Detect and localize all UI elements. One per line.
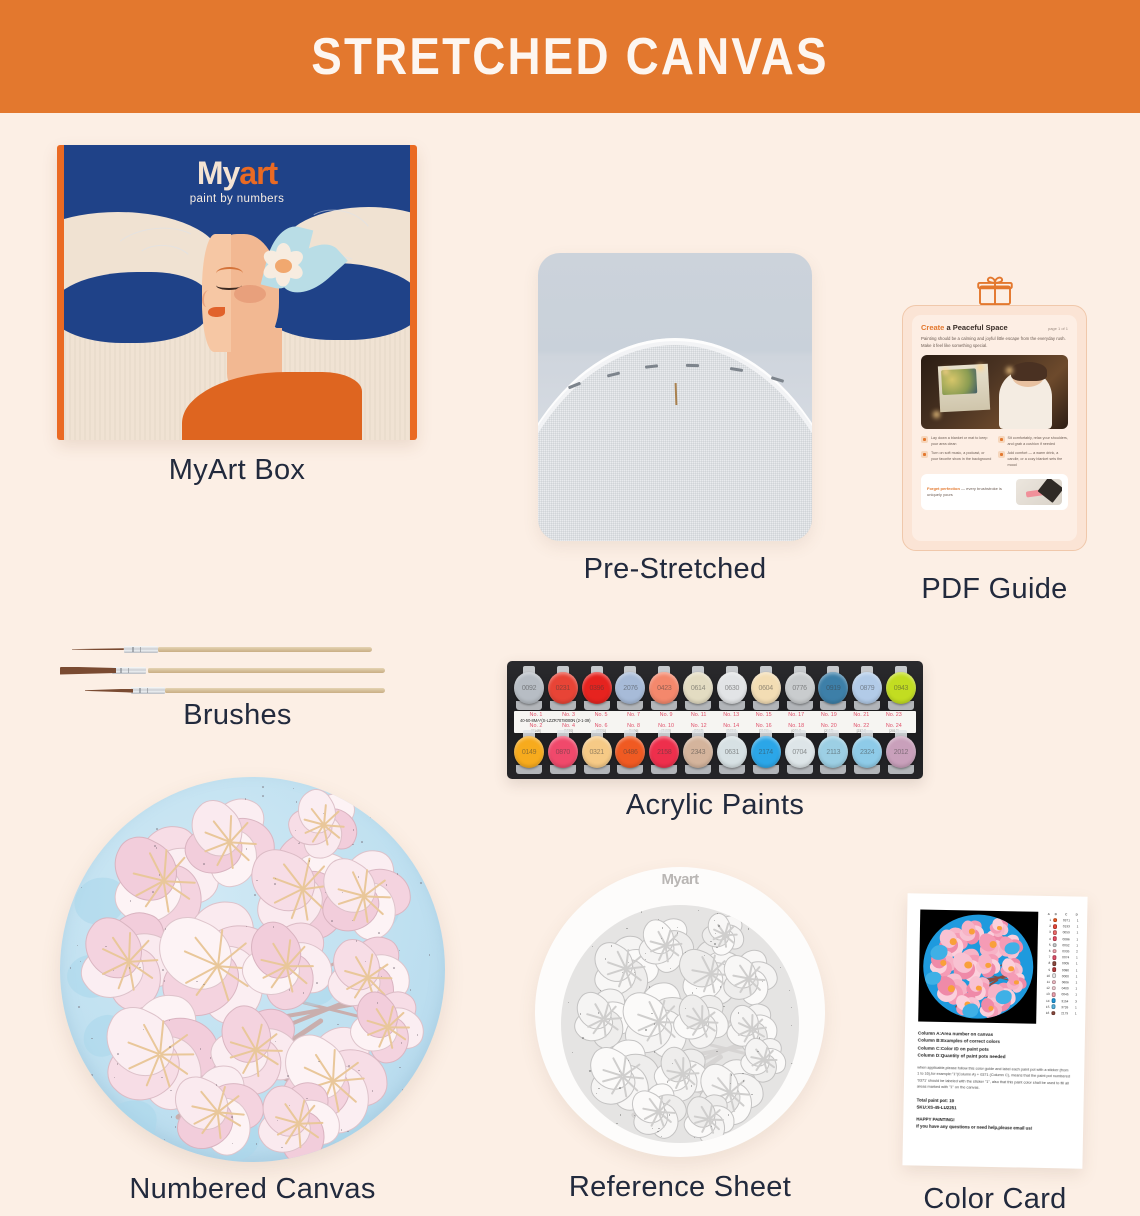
pot-lid: 0321 <box>582 736 612 768</box>
color-swatch <box>1053 936 1058 941</box>
area-number-dot <box>791 1063 792 1064</box>
pot-color-code: 0879 <box>860 685 874 692</box>
nose <box>202 290 214 307</box>
paint-pot-row-top: 0092023103962076042306140630060407760919… <box>514 666 916 710</box>
area-number-dot <box>254 894 256 896</box>
pot-lid: 0092 <box>514 672 544 704</box>
paint-pot: 0943 <box>886 666 916 710</box>
color-swatch-cell <box>1052 918 1059 923</box>
area-number-dot <box>420 882 422 884</box>
pdf-title-rest: a Peaceful Space <box>944 323 1007 332</box>
pot-lid: 0231 <box>548 672 578 704</box>
area-number-dot <box>619 1087 620 1088</box>
area-number-dot <box>711 1126 712 1127</box>
reference-sheet-art <box>561 905 799 1143</box>
pdf-tips-list: Lay down a blanket or mat to keep your a… <box>921 435 1068 469</box>
area-number: 8 <box>1043 961 1050 965</box>
color-swatch-cell <box>1051 949 1058 954</box>
color-card-table: ABCD 10371120193130059140086150092160335… <box>1042 912 1081 1025</box>
pot-lid: 0604 <box>751 672 781 704</box>
stamen <box>287 965 314 967</box>
pdf-tip-text: Turn on soft music, a podcast, or your f… <box>931 450 992 468</box>
pdf-guide-card: Create a Peaceful Space page 1 of 1 Pain… <box>902 305 1087 551</box>
color-card-paper: ABCD 10371120193130059140086150092160335… <box>902 893 1087 1168</box>
eyebrow <box>216 267 243 280</box>
area-number-dot <box>584 950 585 951</box>
cherry-blossom <box>1006 973 1026 992</box>
warm-light <box>933 411 940 418</box>
pdf-tip-item: Add comfort — a warm drink, a candle, or… <box>998 450 1069 468</box>
area-number-dot <box>298 843 300 845</box>
brush-flat-wide <box>60 666 385 675</box>
pot-color-code: 2076 <box>623 685 637 692</box>
area-number-dot <box>704 955 705 956</box>
area-number-dot <box>698 910 699 911</box>
brush-icon <box>1037 479 1062 503</box>
paint-number-label: No. 23 <box>879 712 909 718</box>
pot-color-code: 2012 <box>894 749 908 756</box>
area-number-dot <box>667 1081 668 1082</box>
pdf-tip-item: Lay down a blanket or mat to keep your a… <box>921 435 992 447</box>
pot-quantity: 1 <box>1073 987 1080 991</box>
caption-reference-sheet: Reference Sheet <box>535 1171 825 1204</box>
area-number-dot <box>101 793 103 795</box>
area-number-dot <box>582 1037 583 1038</box>
paint-pot: 0396 <box>582 666 612 710</box>
blossom-center <box>989 941 996 948</box>
area-number-dot <box>210 1057 212 1059</box>
color-swatch-cell <box>1052 930 1059 935</box>
color-card-top: ABCD 10371120193130059140086150092160335… <box>918 910 1074 1025</box>
area-number-dot <box>370 816 372 818</box>
area-number: 1 <box>1044 918 1051 922</box>
area-number-dot <box>390 1127 392 1129</box>
area-number-dot <box>316 982 318 984</box>
pot-color-code: 0423 <box>657 685 671 692</box>
music-icon <box>921 451 928 458</box>
pot-lid: 0776 <box>785 672 815 704</box>
blossom-center <box>976 985 982 991</box>
area-number-dot <box>287 1075 289 1077</box>
color-id: 0045 <box>1058 993 1072 997</box>
pot-color-code: 0396 <box>589 685 603 692</box>
paint-pot: 2012 <box>886 730 916 774</box>
color-swatch-cell <box>1052 924 1059 929</box>
paint-number-label: No. 11 <box>684 712 714 718</box>
color-id: 3726 <box>1058 1005 1072 1009</box>
color-card-figure: ABCD 10371120193130059140086150092160335… <box>905 895 1085 1167</box>
pdf-tip-item: Turn on soft music, a podcast, or your f… <box>921 450 992 468</box>
area-number-dot <box>748 928 749 929</box>
area-number: 9 <box>1043 968 1050 972</box>
color-swatch <box>1051 1011 1056 1016</box>
area-number-dot <box>127 801 129 803</box>
color-swatch <box>1052 974 1057 979</box>
pre-stretched-figure: Pre-Stretched <box>538 253 812 541</box>
color-card-body-text: when applicable,please follow this color… <box>917 1064 1071 1093</box>
color-swatch <box>1052 980 1057 985</box>
pot-lid: 0919 <box>818 672 848 704</box>
pot-lid: 0486 <box>615 736 645 768</box>
pot-quantity: 1 <box>1074 925 1081 929</box>
pot-lid: 0943 <box>886 672 916 704</box>
color-swatch <box>1051 998 1056 1003</box>
area-number-dot <box>742 1073 743 1074</box>
logo-wordmark: Myart <box>64 157 410 189</box>
pdf-footer-text: Forget perfection — every brushstroke is… <box>927 486 1011 499</box>
paint-tray: 0092023103962076042306140630060407760919… <box>507 661 923 779</box>
reference-sheet-logo: Myart <box>535 871 825 888</box>
paint-number-label: No. 5 <box>586 712 616 718</box>
area-number-dot <box>791 1007 792 1008</box>
color-swatch <box>1052 986 1057 991</box>
color-card-preview-image <box>918 910 1038 1024</box>
color-swatch <box>1052 967 1057 972</box>
color-swatch <box>1052 961 1057 966</box>
area-number: 4 <box>1044 937 1051 941</box>
paint-number-label: No. 21 <box>846 712 876 718</box>
area-number-dot <box>572 1052 573 1053</box>
area-number-dot <box>791 1025 792 1026</box>
color-swatch-cell <box>1050 1011 1057 1016</box>
paint-number-label: No. 19 <box>814 712 844 718</box>
pdf-tip-text: Lay down a blanket or mat to keep your a… <box>931 435 992 447</box>
color-swatch-cell <box>1050 986 1057 991</box>
color-card-row: 1621791 <box>1042 1010 1079 1017</box>
caption-brushes: Brushes <box>60 699 415 732</box>
logo-my: My <box>197 155 239 191</box>
area-number-dot <box>615 1128 616 1129</box>
color-id: 0059 <box>1059 931 1073 935</box>
area-number-dot <box>245 798 247 800</box>
paint-pot: 0149 <box>514 730 544 774</box>
paint-number-label: No. 7 <box>619 712 649 718</box>
paint-pot: 0604 <box>751 666 781 710</box>
area-number-dot <box>716 1051 717 1052</box>
color-card-table-body: 1037112019313005914008615009216033527007… <box>1042 917 1081 1017</box>
flower-icon <box>258 242 310 289</box>
pot-lid: 0630 <box>717 672 747 704</box>
area-number-dot <box>164 980 166 982</box>
color-id: 0371 <box>1059 918 1073 922</box>
area-number-dot <box>569 1124 570 1125</box>
paint-pot: 0486 <box>615 730 645 774</box>
area-number-dot <box>649 986 650 987</box>
paint-pot-row-bottom: 0149087003210486215823430631217407042113… <box>514 730 916 774</box>
brush-handle <box>158 647 372 652</box>
color-id: 0005 <box>1059 962 1073 966</box>
hair-left <box>64 272 209 343</box>
blossom-center <box>948 985 956 992</box>
myart-logo: Myart paint by numbers <box>64 157 410 205</box>
color-swatch <box>1053 918 1058 923</box>
area-number-dot <box>598 1012 599 1013</box>
lips <box>208 307 225 318</box>
paint-pot: 2158 <box>649 730 679 774</box>
area-number-dot <box>358 876 360 878</box>
pot-lid: 2324 <box>852 736 882 768</box>
area-number-dot <box>626 928 627 929</box>
area-number-dot <box>361 841 363 843</box>
brush-thin-round <box>72 645 372 654</box>
color-swatch-cell <box>1051 980 1058 985</box>
pot-quantity: 1 <box>1072 1011 1079 1015</box>
area-number-dot <box>762 981 763 982</box>
area-number-dot <box>281 1147 283 1149</box>
area-number-dot <box>429 954 431 956</box>
brush-handle <box>165 688 385 693</box>
area-number-dot <box>589 1070 590 1071</box>
area-number-dot <box>378 932 380 934</box>
brush-bristles <box>60 667 116 675</box>
pre-stretched-photo <box>538 253 812 541</box>
area-number-dot <box>97 1094 99 1096</box>
area-number-dot <box>171 1116 173 1118</box>
box-outer-shell: Myart paint by numbers <box>57 145 417 440</box>
blossom-center <box>988 1006 993 1011</box>
paint-pot: 2113 <box>818 730 848 774</box>
caption-pdf-guide: PDF Guide <box>902 573 1087 606</box>
color-id: 0092 <box>1059 943 1073 947</box>
pot-quantity: 1 <box>1073 962 1080 966</box>
caption-myart-box: MyArt Box <box>57 454 417 487</box>
color-card-col-d: D <box>1073 912 1080 916</box>
pdf-page-label: page 1 of 1 <box>1048 326 1068 331</box>
area-number-dot <box>620 1114 621 1115</box>
area-number-dot <box>428 824 430 826</box>
area-number-dot <box>273 926 275 928</box>
area-number-dot <box>592 946 593 947</box>
color-swatch <box>1052 943 1057 948</box>
area-number-dot <box>421 824 423 826</box>
area-number-dot <box>85 802 87 804</box>
blossom-center <box>950 938 957 945</box>
brush-ferrule <box>112 667 146 674</box>
pot-color-code: 0704 <box>792 749 806 756</box>
area-number-dot <box>99 829 101 831</box>
pot-quantity: 2 <box>1073 950 1080 954</box>
pdf-title: Create a Peaceful Space <box>921 323 1008 332</box>
paint-pot: 0879 <box>852 666 882 710</box>
area-number-dot <box>262 795 264 797</box>
brushes-figure: Brushes <box>60 641 415 716</box>
area-number-dot <box>77 945 79 947</box>
pdf-tip-item: Sit comfortably, relax your shoulders, a… <box>998 435 1069 447</box>
area-number-dot <box>728 1114 729 1115</box>
paint-number-label: No. 9 <box>651 712 681 718</box>
area-number-dot <box>785 1082 786 1083</box>
acrylic-paints-figure: 0092023103962076042306140630060407760919… <box>507 661 923 779</box>
pot-color-code: 0604 <box>759 685 773 692</box>
area-number: 14 <box>1043 998 1050 1002</box>
cherry-blossom <box>704 915 744 955</box>
color-swatch <box>1052 955 1057 960</box>
pdf-guide-page: Create a Peaceful Space page 1 of 1 Pain… <box>912 315 1077 541</box>
color-card-totals: Total paint pot: 19 SKU:XS-45-LU2251 <box>916 1096 1070 1113</box>
color-id: 3154 <box>1058 999 1072 1003</box>
brush-ferrule <box>124 646 158 653</box>
paint-number-label: No. 13 <box>716 712 746 718</box>
area-number-dot <box>780 967 781 968</box>
area-number-dot <box>714 943 715 944</box>
area-number-dot <box>365 961 367 963</box>
color-swatch-cell <box>1051 961 1058 966</box>
pot-lid: 2174 <box>751 736 781 768</box>
paint-pot: 0231 <box>548 666 578 710</box>
shirt-shoulder <box>182 372 362 440</box>
brush-handle <box>148 668 385 673</box>
area-number-dot <box>105 946 107 948</box>
pdf-intro-text: Painting should be a calming and joyful … <box>921 336 1068 350</box>
area-number-dot <box>289 989 291 991</box>
paint-pot: 0630 <box>717 666 747 710</box>
brushstroke-photo <box>1016 479 1062 505</box>
area-number-dot <box>405 1153 407 1155</box>
cherry-blossom <box>685 1095 733 1143</box>
preview-circle <box>922 914 1034 1020</box>
brush-bristles <box>85 689 133 693</box>
paint-pot: 0423 <box>649 666 679 710</box>
area-number-dot <box>785 957 786 958</box>
paint-pot: 2343 <box>683 730 713 774</box>
stamen <box>160 1053 194 1055</box>
pdf-tip-text: Add comfort — a warm drink, a candle, or… <box>1008 450 1069 468</box>
caption-color-card: Color Card <box>905 1183 1085 1216</box>
color-swatch <box>1053 930 1058 935</box>
pot-color-code: 0776 <box>792 685 806 692</box>
pot-lid: 2076 <box>615 672 645 704</box>
area-number-dot <box>789 990 790 991</box>
area-number-dot <box>117 1053 119 1055</box>
area-number-dot <box>309 860 311 862</box>
numbered-canvas-art <box>60 777 445 1162</box>
area-number-dot <box>91 1038 93 1040</box>
area-number-dot <box>399 1067 401 1069</box>
area-number-dot <box>410 989 412 991</box>
pot-color-code: 2324 <box>860 749 874 756</box>
pdf-footer-highlight: Forget perfection <box>927 486 960 491</box>
area-number-dot <box>91 1074 93 1076</box>
color-swatch-cell <box>1051 943 1058 948</box>
color-card-closing: HAPPY PAINTING! If you have any question… <box>916 1115 1070 1132</box>
pot-color-code: 0614 <box>691 685 705 692</box>
color-swatch-cell <box>1050 1004 1057 1009</box>
brush-medium-round <box>85 686 385 695</box>
area-number-dot <box>757 1051 758 1052</box>
cherry-blossom <box>742 1038 785 1081</box>
pot-lid: 0870 <box>548 736 578 768</box>
caption-pre-stretched: Pre-Stretched <box>538 553 812 586</box>
area-number-dot <box>751 1094 752 1095</box>
area-number-dot <box>216 1084 218 1086</box>
area-number-dot <box>670 968 671 969</box>
area-number-dot <box>765 911 766 912</box>
blossom-center <box>964 961 972 969</box>
brush-ferrule <box>131 687 165 694</box>
color-swatch-cell <box>1051 974 1058 979</box>
area-number-dot <box>419 1105 421 1107</box>
area-number: 3 <box>1044 930 1051 934</box>
area-number: 16 <box>1042 1011 1049 1015</box>
area-number: 6 <box>1044 949 1051 953</box>
color-id: 0074 <box>1059 955 1073 959</box>
area-number-dot <box>231 1116 233 1118</box>
page-title: STRETCHED CANVAS <box>311 27 828 87</box>
pdf-header-row: Create a Peaceful Space page 1 of 1 <box>921 323 1068 332</box>
area-number-dot <box>70 967 72 969</box>
color-id: 0335 <box>1059 949 1073 953</box>
color-id: 0193 <box>1059 924 1073 928</box>
pot-quantity: 1 <box>1074 919 1081 923</box>
color-swatch-cell <box>1050 992 1057 997</box>
area-number-dot <box>568 1002 569 1003</box>
paint-pot: 0919 <box>818 666 848 710</box>
reference-sheet-figure: Myart Reference Sheet <box>535 855 825 1160</box>
color-swatch <box>1052 949 1057 954</box>
area-number: 15 <box>1042 1005 1049 1009</box>
product-feature-grid: Myart paint by numbers MyArt Box Pre-Str… <box>0 113 1140 1140</box>
pot-lid: 2158 <box>649 736 679 768</box>
pot-quantity: 1 <box>1073 956 1080 960</box>
brush-bristles <box>72 648 124 650</box>
paint-pot: 0092 <box>514 666 544 710</box>
area-number-dot <box>386 884 388 886</box>
area-number-dot <box>408 1148 410 1150</box>
area-number-dot <box>151 1153 153 1155</box>
color-id: 0086 <box>1059 937 1073 941</box>
area-number-dot <box>331 920 333 922</box>
paint-pot: 2174 <box>751 730 781 774</box>
area-number: 11 <box>1043 980 1050 984</box>
pot-color-code: 2158 <box>657 749 671 756</box>
cushion-icon <box>998 436 1005 443</box>
cherry-blossom <box>976 954 1001 977</box>
cherry-blossom <box>675 995 727 1047</box>
area-number-dot <box>765 1117 766 1118</box>
color-id: 0400 <box>1058 986 1072 990</box>
area-number: 13 <box>1043 992 1050 996</box>
area-number-dot <box>393 967 395 969</box>
pot-lid: 0614 <box>683 672 713 704</box>
area-number-dot <box>590 1117 591 1118</box>
pot-color-code: 0919 <box>826 685 840 692</box>
area-number: 2 <box>1044 924 1051 928</box>
pot-color-code: 0631 <box>725 749 739 756</box>
color-card-legend: Column A:Area number on canvasColumn B:E… <box>917 1030 1072 1063</box>
area-number-dot <box>372 1090 374 1092</box>
area-number-dot <box>774 1097 775 1098</box>
area-number-dot <box>436 1129 438 1131</box>
area-number-dot <box>401 1042 403 1044</box>
pot-color-code: 2113 <box>826 749 840 756</box>
pdf-title-highlight: Create <box>921 323 944 332</box>
color-swatch-cell <box>1051 967 1058 972</box>
color-swatch-cell <box>1050 998 1057 1003</box>
area-number-dot <box>196 981 198 983</box>
area-number-dot <box>783 928 784 929</box>
area-number-dot <box>152 891 154 893</box>
caption-acrylic-paints: Acrylic Paints <box>507 789 923 822</box>
area-number: 10 <box>1043 974 1050 978</box>
area-number-dot <box>718 925 719 926</box>
area-number-dot <box>793 973 794 974</box>
pot-quantity: 1 <box>1074 931 1081 935</box>
pot-quantity: 1 <box>1074 943 1081 947</box>
area-number-dot <box>154 845 156 847</box>
area-number-dot <box>641 911 642 912</box>
area-number-dot <box>645 1029 646 1030</box>
pot-color-code: 0092 <box>522 685 536 692</box>
